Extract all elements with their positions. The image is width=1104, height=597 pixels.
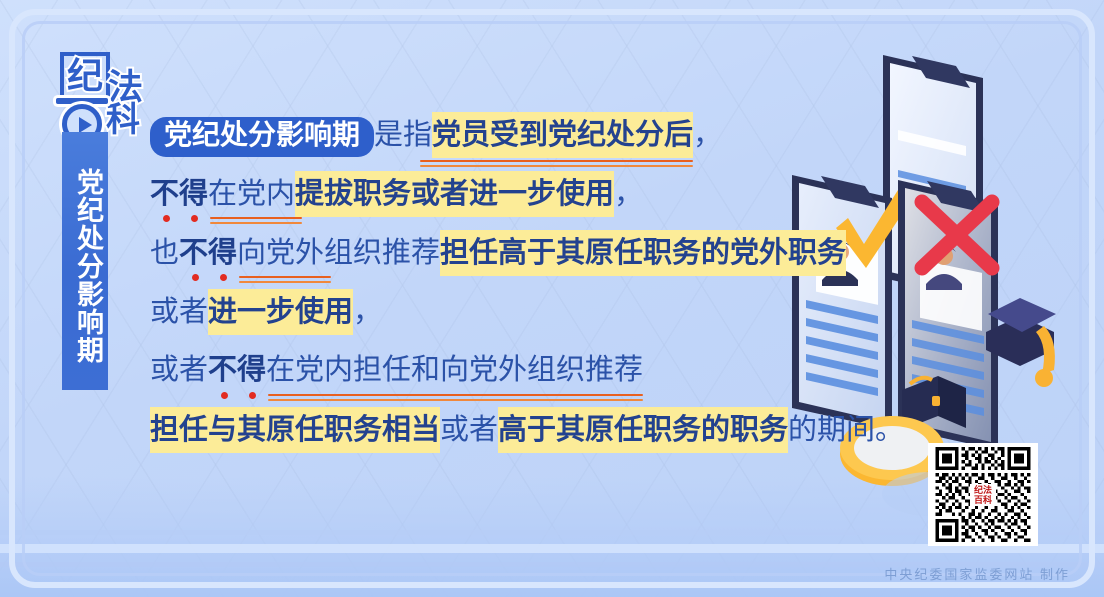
emphasis-text: 不得 <box>208 348 266 392</box>
brand-logo: 纪 法 科 <box>54 52 152 144</box>
infographic-canvas: 纪 法 科 党纪处分影响期 <box>0 0 1104 597</box>
highlighted-text: 进一步使用 <box>208 289 353 335</box>
underline-rule <box>268 394 643 396</box>
logo-char-ji: 纪 <box>60 52 110 100</box>
emphasis-dot <box>221 392 228 399</box>
highlighted-text: 高于其原任职务的职务 <box>498 407 788 453</box>
plain-text: 或者 <box>150 290 208 334</box>
underline-rule <box>210 217 302 219</box>
text-line: 担任与其原任职务相当或者高于其原任职务的职务的期间。 <box>150 407 870 466</box>
text-line: 也不得向党外组织推荐担任高于其原任职务的党外职务 <box>150 230 870 289</box>
qr-code[interactable]: 纪法百科 <box>928 443 1038 546</box>
qr-pattern: 纪法百科 <box>932 447 1034 542</box>
text-line: 或者进一步使用， <box>150 289 870 348</box>
plain-text: 的期间。 <box>788 408 904 452</box>
emphasis-dot <box>220 274 227 281</box>
logo-char-ke: 科 <box>106 104 140 138</box>
underline-rule <box>239 276 331 278</box>
plain-text: 在党内 <box>208 172 295 216</box>
text-line: 不得在党内提拔职务或者进一步使用， <box>150 171 870 230</box>
plain-text: ， <box>693 113 722 157</box>
underline-rule <box>420 160 693 162</box>
plain-text: 在党内担任和向党外组织推荐 <box>266 348 643 392</box>
highlighted-text: 担任与其原任职务相当 <box>150 407 440 453</box>
emphasis-dot <box>163 215 170 222</box>
emphasis-dot <box>192 274 199 281</box>
emphasis-text: 不得 <box>179 231 237 275</box>
plain-text: ， <box>614 172 643 216</box>
text-line: 或者不得在党内担任和向党外组织推荐 <box>150 348 870 407</box>
vertical-title-banner: 党纪处分影响期 <box>62 132 108 390</box>
term-badge: 党纪处分影响期 <box>150 117 374 157</box>
plain-text: 也 <box>150 231 179 275</box>
plain-text: 向党外组织推荐 <box>237 231 440 275</box>
main-text-block: 党纪处分影响期 是指党员受到党纪处分后，不得在党内提拔职务或者进一步使用，也不得… <box>150 112 870 466</box>
logo-char-fa: 法 <box>108 70 143 105</box>
emphasis-dot <box>191 215 198 222</box>
emphasis-text: 不得 <box>150 172 208 216</box>
qr-center-logo: 纪法百科 <box>970 484 996 506</box>
text-line: 党纪处分影响期 是指党员受到党纪处分后， <box>150 112 870 171</box>
emphasis-dot <box>249 392 256 399</box>
plain-text: ， <box>353 290 382 334</box>
highlighted-text: 提拔职务或者进一步使用 <box>295 171 614 217</box>
plain-text: 是指 <box>374 113 432 157</box>
plain-text: 或者 <box>440 408 498 452</box>
plain-text: 或者 <box>150 348 208 392</box>
highlighted-text: 担任高于其原任职务的党外职务 <box>440 230 846 276</box>
highlighted-text: 党员受到党纪处分后 <box>432 112 693 158</box>
footer-credit: 中央纪委国家监委网站 制作 <box>884 564 1070 583</box>
